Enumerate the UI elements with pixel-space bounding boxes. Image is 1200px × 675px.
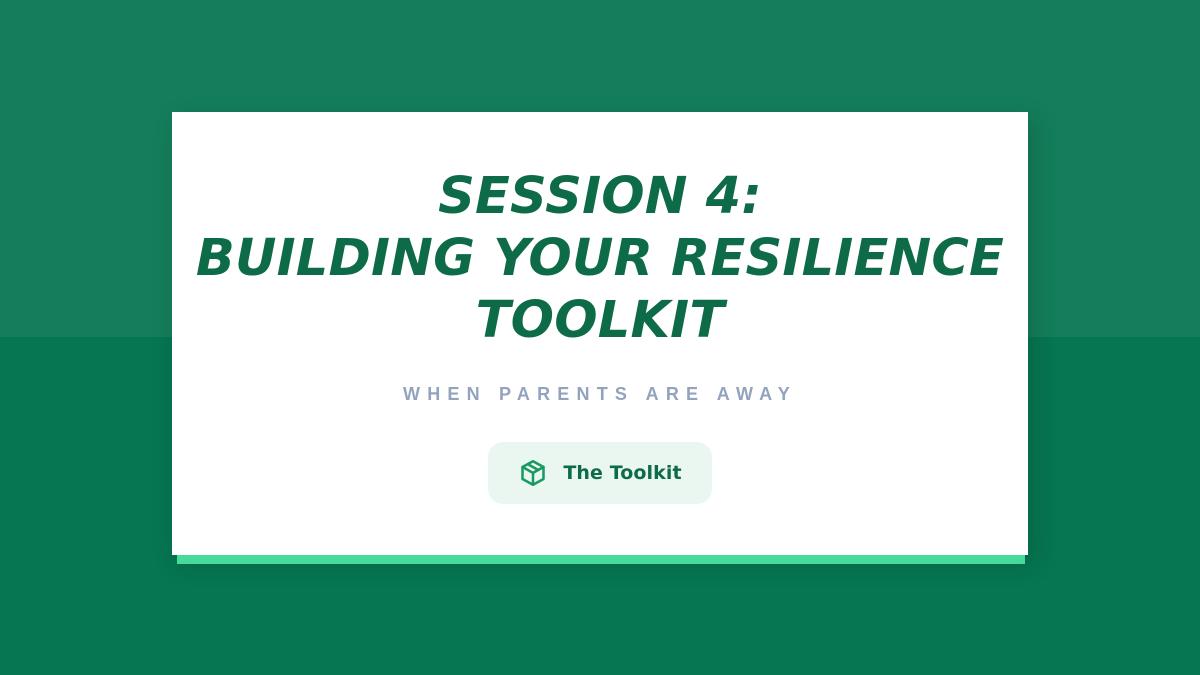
- title-line-3: TOOLKIT: [172, 290, 1028, 352]
- page-title: SESSION 4: BUILDING YOUR RESILIENCE TOOL…: [172, 166, 1028, 352]
- package-box-icon: [518, 458, 548, 488]
- toolkit-badge-label: The Toolkit: [563, 462, 681, 484]
- page-subtitle: WHEN PARENTS ARE AWAY: [172, 384, 1028, 405]
- toolkit-badge[interactable]: The Toolkit: [488, 442, 711, 504]
- title-line-1: SESSION 4:: [172, 166, 1028, 228]
- title-line-2: BUILDING YOUR RESILIENCE: [172, 228, 1028, 290]
- card-accent-bar: [177, 555, 1025, 564]
- slide-card: SESSION 4: BUILDING YOUR RESILIENCE TOOL…: [172, 112, 1028, 555]
